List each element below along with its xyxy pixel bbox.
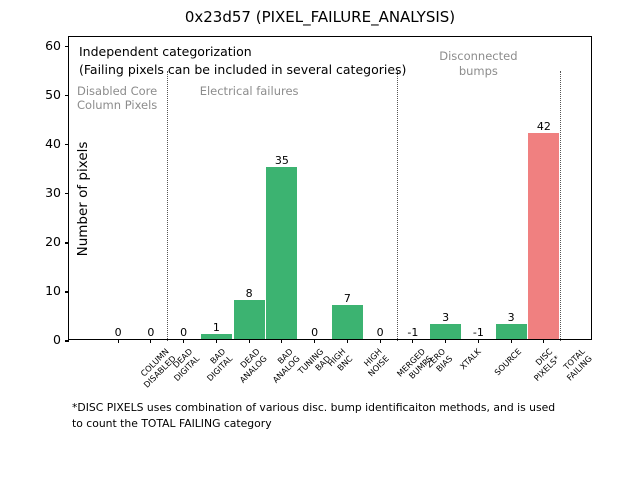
y-tick-label: 20 [45, 234, 61, 249]
y-tick-mark [65, 340, 69, 341]
x-tick-label-11: SOURCE [493, 347, 524, 378]
x-tick-label-9: ZEROBIAS [425, 347, 455, 377]
annotation-electrical-failures: Electrical failures [179, 84, 319, 98]
y-tick-label: 50 [45, 87, 61, 102]
bar-value-label-6: 0 [298, 326, 331, 339]
bar-value-label-13: 42 [528, 120, 561, 133]
footnote-disc-pixels: *DISC PIXELS uses combination of various… [72, 400, 592, 431]
bar-value-label-7: 7 [331, 292, 364, 305]
x-tick-mark [380, 339, 381, 343]
bar-value-label-8: 0 [364, 326, 397, 339]
y-tick-mark [65, 291, 69, 292]
annotation-disconnected-bumps: Disconnected bumps [418, 49, 538, 78]
bar-value-label-11: -1 [462, 326, 495, 339]
x-tick-label-7: HIGHNOISE [360, 347, 392, 379]
pixel-failure-analysis-figure: 0x23d57 (PIXEL_FAILURE_ANALYSIS) Number … [0, 0, 640, 480]
x-tick-mark [478, 339, 479, 343]
y-tick-mark [65, 46, 69, 47]
y-tick-label: 0 [53, 332, 61, 347]
bar-12 [496, 324, 527, 339]
y-tick-mark [65, 144, 69, 145]
bar-7 [332, 305, 363, 339]
bar-10 [430, 324, 461, 339]
x-tick-mark [183, 339, 184, 343]
x-tick-label-13: TOTALFAILING [558, 347, 594, 383]
bar-13 [528, 133, 559, 339]
x-tick-label-5: TUNINGBAD [296, 347, 332, 383]
bar-value-label-3: 1 [200, 321, 233, 334]
y-tick-label: 40 [45, 136, 61, 151]
x-tick-mark [249, 339, 250, 343]
x-tick-mark [281, 339, 282, 343]
bar-value-label-2: 0 [167, 326, 200, 339]
x-tick-label-12: DISCPIXELS* [525, 347, 561, 383]
bar-5 [266, 167, 297, 339]
bar-value-label-1: 0 [135, 326, 168, 339]
x-tick-mark [412, 339, 413, 343]
x-tick-mark [216, 339, 217, 343]
x-tick-mark [543, 339, 544, 343]
y-tick-label: 60 [45, 38, 61, 53]
category-divider-1 [397, 71, 398, 341]
bar-value-label-12: 3 [495, 311, 528, 324]
x-tick-label-4: BADANALOG [264, 347, 302, 385]
bar-3 [201, 334, 232, 339]
bar-4 [234, 300, 265, 339]
y-tick-mark [65, 95, 69, 96]
y-tick-label: 30 [45, 185, 61, 200]
bar-value-label-9: -1 [397, 326, 430, 339]
x-tick-mark [347, 339, 348, 343]
category-divider-2 [560, 71, 561, 341]
x-tick-mark [511, 339, 512, 343]
x-tick-mark [445, 339, 446, 343]
x-tick-label-line: XTALK [458, 347, 483, 372]
x-tick-mark [150, 339, 151, 343]
x-tick-label-2: BADDIGITAL [198, 347, 234, 383]
x-tick-label-3: DEADANALOG [231, 347, 269, 385]
x-tick-label-line: SOURCE [493, 347, 524, 378]
y-tick-mark [65, 193, 69, 194]
bar-value-label-10: 3 [429, 311, 462, 324]
independent-categorization-note: Independent categorization (Failing pixe… [79, 43, 406, 79]
annotation-disabled-core-column-pixels: Disabled Core Column Pixels [77, 84, 157, 113]
plot-area: Number of pixels 0102030405060 000183507… [68, 36, 592, 340]
y-tick-mark [65, 242, 69, 243]
chart-title: 0x23d57 (PIXEL_FAILURE_ANALYSIS) [0, 8, 640, 26]
bar-value-label-4: 8 [233, 287, 266, 300]
category-divider-0 [167, 71, 168, 341]
bar-value-label-5: 35 [266, 154, 299, 167]
x-tick-label-6: HIGHBNC [326, 347, 355, 376]
x-tick-mark [314, 339, 315, 343]
y-tick-label: 10 [45, 283, 61, 298]
bar-value-label-0: 0 [102, 326, 135, 339]
x-tick-label-10: XTALK [458, 347, 483, 372]
x-tick-mark [118, 339, 119, 343]
